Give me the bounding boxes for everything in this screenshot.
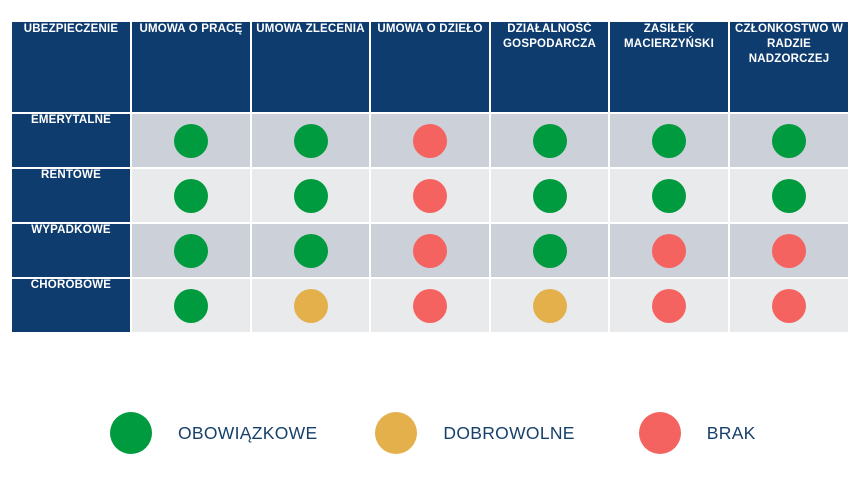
status-dot-green-icon <box>772 179 806 213</box>
legend-label-brak: BRAK <box>707 423 756 444</box>
header-row: UBEZPIECZENIE UMOWA O PRACĘ UMOWA ZLECEN… <box>12 22 848 112</box>
matrix-cell <box>610 279 728 332</box>
status-dot-green-icon <box>533 179 567 213</box>
table-header: UBEZPIECZENIE UMOWA O PRACĘ UMOWA ZLECEN… <box>12 22 848 112</box>
matrix-cell <box>491 169 608 222</box>
column-header-dzialalnosc-gospodarcza: DZIAŁALNOŚĆ GOSPODARCZA <box>491 22 608 112</box>
legend-item-brak: BRAK <box>639 412 756 454</box>
column-header-umowa-o-dzielo: UMOWA O DZIEŁO <box>371 22 489 112</box>
table-row: RENTOWE <box>12 169 848 222</box>
status-dot-green-icon <box>174 234 208 268</box>
status-dot-green-icon <box>533 124 567 158</box>
legend-dot-red-icon <box>639 412 681 454</box>
status-dot-red-icon <box>772 289 806 323</box>
matrix-cell <box>371 114 489 167</box>
status-dot-green-icon <box>294 124 328 158</box>
row-header-chorobowe: CHOROBOWE <box>12 279 130 332</box>
matrix-cell <box>730 169 848 222</box>
status-dot-green-icon <box>174 179 208 213</box>
column-header-ubezpieczenie: UBEZPIECZENIE <box>12 22 130 112</box>
legend-label-dobrowolne: DOBROWOLNE <box>443 423 574 444</box>
matrix-cell <box>491 114 608 167</box>
status-dot-red-icon <box>413 179 447 213</box>
insurance-matrix-page: UBEZPIECZENIE UMOWA O PRACĘ UMOWA ZLECEN… <box>0 0 866 490</box>
matrix-cell <box>371 224 489 277</box>
status-dot-red-icon <box>652 289 686 323</box>
status-dot-red-icon <box>413 124 447 158</box>
status-dot-green-icon <box>533 234 567 268</box>
table-row: EMERYTALNE <box>12 114 848 167</box>
matrix-cell <box>252 169 369 222</box>
row-header-wypadkowe: WYPADKOWE <box>12 224 130 277</box>
matrix-cell <box>132 279 250 332</box>
insurance-contribution-matrix: UBEZPIECZENIE UMOWA O PRACĘ UMOWA ZLECEN… <box>10 20 850 334</box>
status-dot-green-icon <box>174 124 208 158</box>
matrix-cell <box>132 114 250 167</box>
status-dot-red-icon <box>413 289 447 323</box>
status-dot-green-icon <box>294 179 328 213</box>
matrix-cell <box>730 279 848 332</box>
matrix-cell <box>252 114 369 167</box>
status-dot-yellow-icon <box>533 289 567 323</box>
status-dot-green-icon <box>174 289 208 323</box>
matrix-cell <box>610 169 728 222</box>
row-header-emerytalne: EMERYTALNE <box>12 114 130 167</box>
legend: OBOWIĄZKOWE DOBROWOLNE BRAK <box>110 412 756 454</box>
matrix-cell <box>610 224 728 277</box>
matrix-cell <box>730 224 848 277</box>
status-dot-green-icon <box>294 234 328 268</box>
status-dot-green-icon <box>652 124 686 158</box>
status-dot-red-icon <box>413 234 447 268</box>
row-header-rentowe: RENTOWE <box>12 169 130 222</box>
table-body: EMERYTALNERENTOWEWYPADKOWECHOROBOWE <box>12 114 848 332</box>
legend-item-obowiazkowe: OBOWIĄZKOWE <box>110 412 317 454</box>
matrix-cell <box>371 279 489 332</box>
status-dot-green-icon <box>772 124 806 158</box>
matrix-cell <box>730 114 848 167</box>
matrix-cell <box>252 224 369 277</box>
legend-label-obowiazkowe: OBOWIĄZKOWE <box>178 423 317 444</box>
status-dot-yellow-icon <box>294 289 328 323</box>
column-header-umowa-o-prace: UMOWA O PRACĘ <box>132 22 250 112</box>
matrix-cell <box>491 224 608 277</box>
status-dot-green-icon <box>652 179 686 213</box>
matrix-cell <box>610 114 728 167</box>
matrix-cell <box>371 169 489 222</box>
status-dot-red-icon <box>652 234 686 268</box>
column-header-czlonkostwo-w-radzie-nadzorczej: CZŁONKOSTWO W RADZIE NADZORCZEJ <box>730 22 848 112</box>
table-row: CHOROBOWE <box>12 279 848 332</box>
legend-dot-green-icon <box>110 412 152 454</box>
matrix-cell <box>491 279 608 332</box>
status-dot-red-icon <box>772 234 806 268</box>
legend-dot-yellow-icon <box>375 412 417 454</box>
matrix-cell <box>132 169 250 222</box>
column-header-zasilek-macierzynski: ZASIŁEK MACIERZYŃSKI <box>610 22 728 112</box>
table-row: WYPADKOWE <box>12 224 848 277</box>
legend-item-dobrowolne: DOBROWOLNE <box>375 412 574 454</box>
column-header-umowa-zlecenia: UMOWA ZLECENIA <box>252 22 369 112</box>
matrix-cell <box>132 224 250 277</box>
matrix-cell <box>252 279 369 332</box>
